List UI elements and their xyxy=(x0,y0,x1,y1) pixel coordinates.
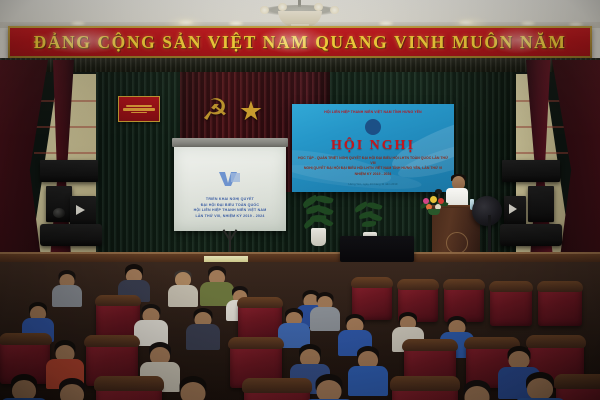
banner-glare xyxy=(488,26,548,54)
chair xyxy=(244,382,310,400)
speaker-right-sub xyxy=(500,224,562,246)
backdrop-header: HỘI LIÊN HIỆP THANH NIÊN VIỆT NAM TỈNH H… xyxy=(296,110,450,114)
audience-person xyxy=(48,378,96,400)
hammer-sickle-icon: ☭ xyxy=(200,96,230,126)
conference-hall-photo: ĐẢNG CỘNG SẢN VIỆT NAM QUANG VINH MUÔN N… xyxy=(0,0,600,400)
audience-person xyxy=(134,304,168,344)
backdrop-subtitle-line: NHIỆM KỲ 2019 - 2024 xyxy=(298,172,448,177)
backdrop-footer: Hưng Yên, ngày 20 tháng 11 năm 2019 xyxy=(298,182,448,186)
audience-person xyxy=(52,270,82,304)
potted-plant-left xyxy=(300,196,336,258)
chair xyxy=(96,380,162,400)
backdrop-title: HỘI NGHỊ xyxy=(296,138,450,154)
backdrop-subtitle-line: HỌC TẬP - QUÁN TRIỆT NGHỊ QUYẾT ĐẠI HỘI … xyxy=(298,156,448,166)
stage-monitor xyxy=(340,236,414,262)
speaker-left-lower xyxy=(46,186,72,222)
slide-line: HỘI LIÊN HIỆP THANH NIÊN VIỆT NAM xyxy=(180,208,280,214)
chair xyxy=(238,300,282,342)
audience-person xyxy=(304,374,354,400)
wall-placard xyxy=(118,96,160,122)
microphone-icon xyxy=(435,189,442,194)
audience-person xyxy=(514,372,566,400)
banner-glare xyxy=(258,26,328,54)
conference-backdrop: HỘI LIÊN HIỆP THANH NIÊN VIỆT NAM TỈNH H… xyxy=(292,104,454,192)
audience-person xyxy=(168,270,198,304)
audience-person xyxy=(186,308,220,348)
speaker-right-upper xyxy=(502,160,560,182)
speaker-left-sub xyxy=(40,224,102,246)
audience-person xyxy=(452,380,502,400)
projection-screen-assembly: TRIỂN KHAI NGHỊ QUYẾT ĐẠI HỘI ĐẠI BIỂU T… xyxy=(172,138,288,238)
audience-person xyxy=(348,346,388,394)
flower-arrangement xyxy=(420,196,448,214)
backdrop-logo-icon xyxy=(364,118,382,136)
audience-person xyxy=(310,292,340,328)
speaker-right-lower xyxy=(528,186,554,222)
audience-area xyxy=(0,262,600,400)
audience-person xyxy=(168,376,218,400)
backdrop-subtitle: HỌC TẬP - QUÁN TRIỆT NGHỊ QUYẾT ĐẠI HỘI … xyxy=(298,156,448,177)
stage-edge-highlight xyxy=(0,252,600,254)
slide-text-block: TRIỂN KHAI NGHỊ QUYẾT ĐẠI HỘI ĐẠI BIỂU T… xyxy=(180,197,280,219)
projection-screen: TRIỂN KHAI NGHỊ QUYẾT ĐẠI HỘI ĐẠI BIỂU T… xyxy=(174,147,286,231)
slogan-banner-frame: ĐẢNG CỘNG SẢN VIỆT NAM QUANG VINH MUÔN N… xyxy=(8,26,592,58)
screen-case xyxy=(172,138,288,147)
slide-line: LẦN THỨ VIII, NHIỆM KỲ 2019 - 2024 xyxy=(180,214,280,220)
speaker-right-mid xyxy=(504,196,526,226)
podium-emblem xyxy=(446,232,468,254)
star-icon: ★ xyxy=(236,96,266,126)
backdrop-subtitle-line: NGHỊ QUYẾT ĐẠI HỘI ĐẠI BIỂU HỘI LHTN VIỆ… xyxy=(298,166,448,171)
chair xyxy=(490,284,532,326)
chair xyxy=(392,380,458,400)
plant-pot xyxy=(311,228,326,246)
speaker-left-upper xyxy=(40,160,98,182)
downlight-icon xyxy=(458,20,474,25)
chair xyxy=(538,284,582,326)
audience-person xyxy=(0,374,48,400)
banner-glare xyxy=(38,26,128,54)
slide-logo-icon xyxy=(218,169,242,187)
standing-fan xyxy=(472,196,502,226)
downlight-icon xyxy=(178,20,194,25)
